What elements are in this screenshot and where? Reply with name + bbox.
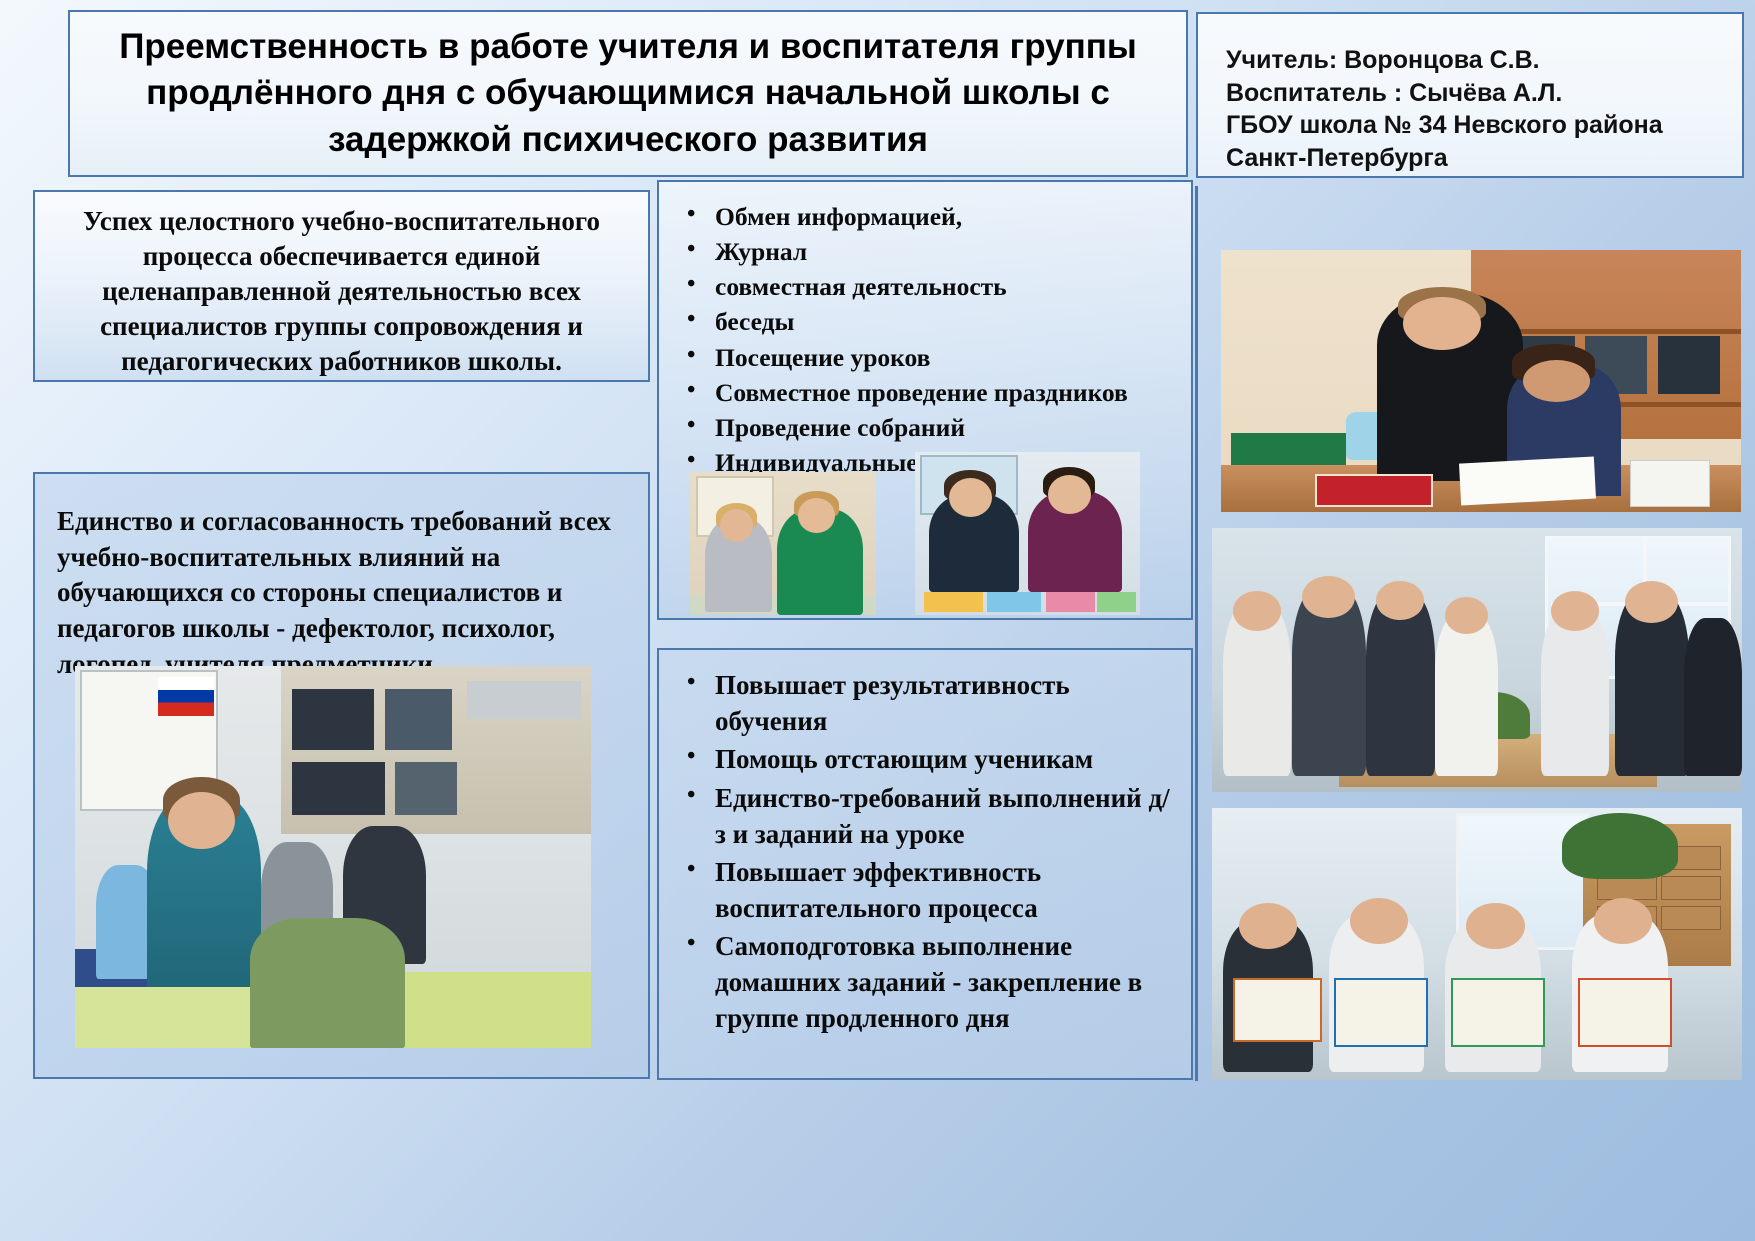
list-item: Помощь отстающим ученикам [677, 742, 1175, 778]
photo-two-women-talking [690, 472, 876, 615]
title-box: Преемственность в работе учителя и воспи… [68, 10, 1188, 177]
photo-children-reading [1212, 808, 1742, 1080]
poster-canvas: Преемственность в работе учителя и воспи… [0, 0, 1755, 1241]
list-item: Посещение уроков [677, 341, 1175, 374]
list-item: Повышает эффективность воспитательного п… [677, 855, 1175, 926]
author-info: Учитель: Воронцова С.В. Воспитатель : Сы… [1226, 44, 1742, 174]
photo-teacher-with-girl [1221, 250, 1741, 512]
left-bottom-statement-text: Единство и согласованность требований вс… [35, 474, 648, 682]
list-item: Совместное проведение праздников [677, 376, 1175, 409]
benefits-box: Повышает результативность обучения Помощ… [657, 648, 1193, 1080]
list-item: Самоподготовка выполнение домашних задан… [677, 929, 1175, 1036]
list-item: Единство-требований выполнений д/з и зад… [677, 781, 1175, 852]
list-item: беседы [677, 305, 1175, 338]
photo-children-at-exhibit [1212, 528, 1742, 792]
list-item: совместная деятельность [677, 270, 1175, 303]
benefits-list: Повышает результативность обучения Помощ… [659, 650, 1191, 1036]
list-item: Обмен информацией, [677, 200, 1175, 233]
list-item: Проведение собраний [677, 411, 1175, 444]
list-item: Повышает результативность обучения [677, 668, 1175, 739]
list-item: Журнал [677, 235, 1175, 268]
left-top-statement-box: Успех целостного учебно-воспитательного … [33, 190, 650, 382]
author-box: Учитель: Воронцова С.В. Воспитатель : Сы… [1196, 12, 1744, 178]
photo-two-teachers-with-books [915, 452, 1140, 615]
left-top-statement-text: Успех целостного учебно-воспитательного … [49, 204, 634, 379]
right-column-divider [1195, 186, 1198, 1081]
page-title: Преемственность в работе учителя и воспи… [70, 24, 1186, 164]
photo-classroom-lesson [75, 666, 591, 1048]
